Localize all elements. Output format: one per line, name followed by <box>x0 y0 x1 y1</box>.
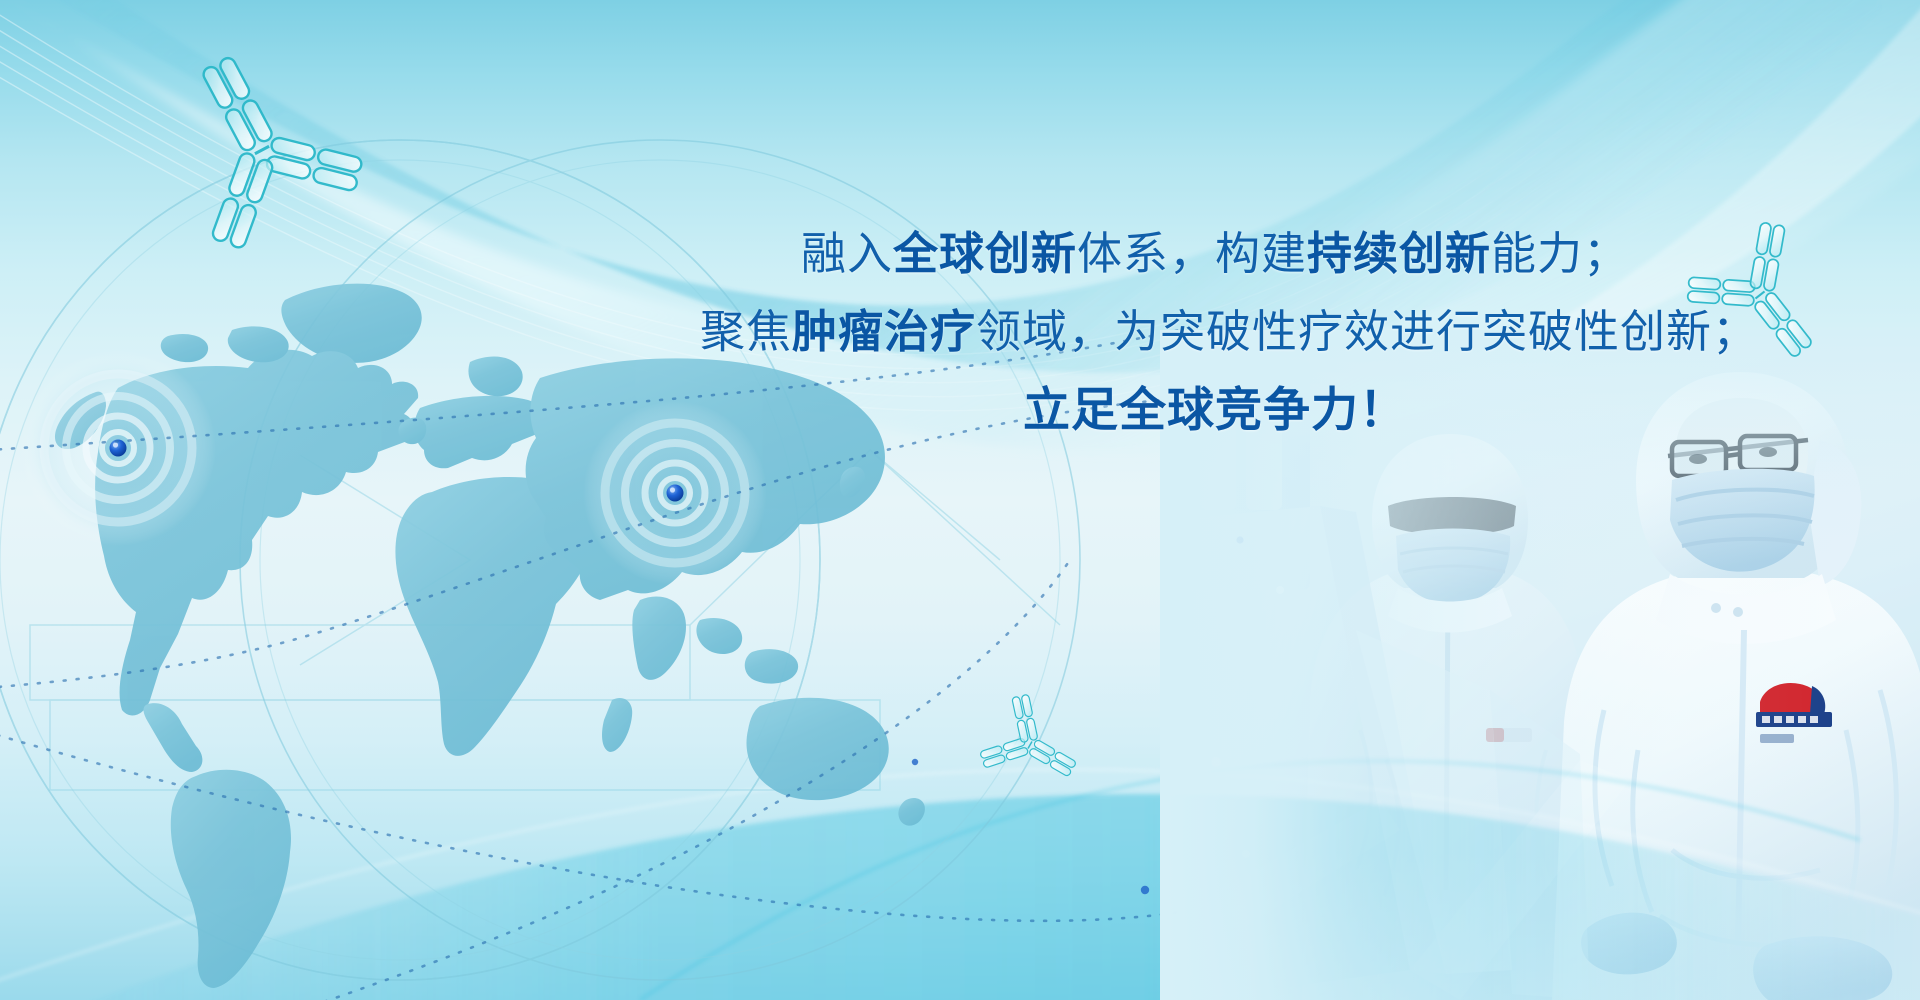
headline-l1-seg5: 能力； <box>1491 228 1629 279</box>
headline-line-2: 聚焦肿瘤治疗领域，为突破性疗效进行突破性创新； <box>700 293 1730 371</box>
hero-banner: 融入全球创新体系，构建持续创新能力； 聚焦肿瘤治疗领域，为突破性疗效进行突破性创… <box>0 0 1920 1000</box>
antibody-top-left <box>140 24 375 262</box>
headline-block: 融入全球创新体系，构建持续创新能力； 聚焦肿瘤治疗领域，为突破性疗效进行突破性创… <box>700 215 1730 449</box>
antibody-molecules <box>0 0 1920 1000</box>
headline-line-3: 立足全球竞争力！ <box>700 371 1730 449</box>
headline-l1-seg2-bold: 全球创新 <box>893 228 1077 279</box>
headline-l1-seg3: 体系，构建 <box>1077 228 1307 279</box>
antibody-bottom-center <box>974 688 1094 807</box>
headline-line-1: 融入全球创新体系，构建持续创新能力； <box>700 215 1730 293</box>
headline-l1-seg1: 融入 <box>801 228 893 279</box>
headline-l2-seg3: 领域，为突破性疗效进行突破性创新； <box>976 306 1758 357</box>
headline-l2-seg1: 聚焦 <box>700 306 792 357</box>
headline-l1-seg4-bold: 持续创新 <box>1307 228 1491 279</box>
headline-l2-seg2-bold: 肿瘤治疗 <box>792 306 976 357</box>
